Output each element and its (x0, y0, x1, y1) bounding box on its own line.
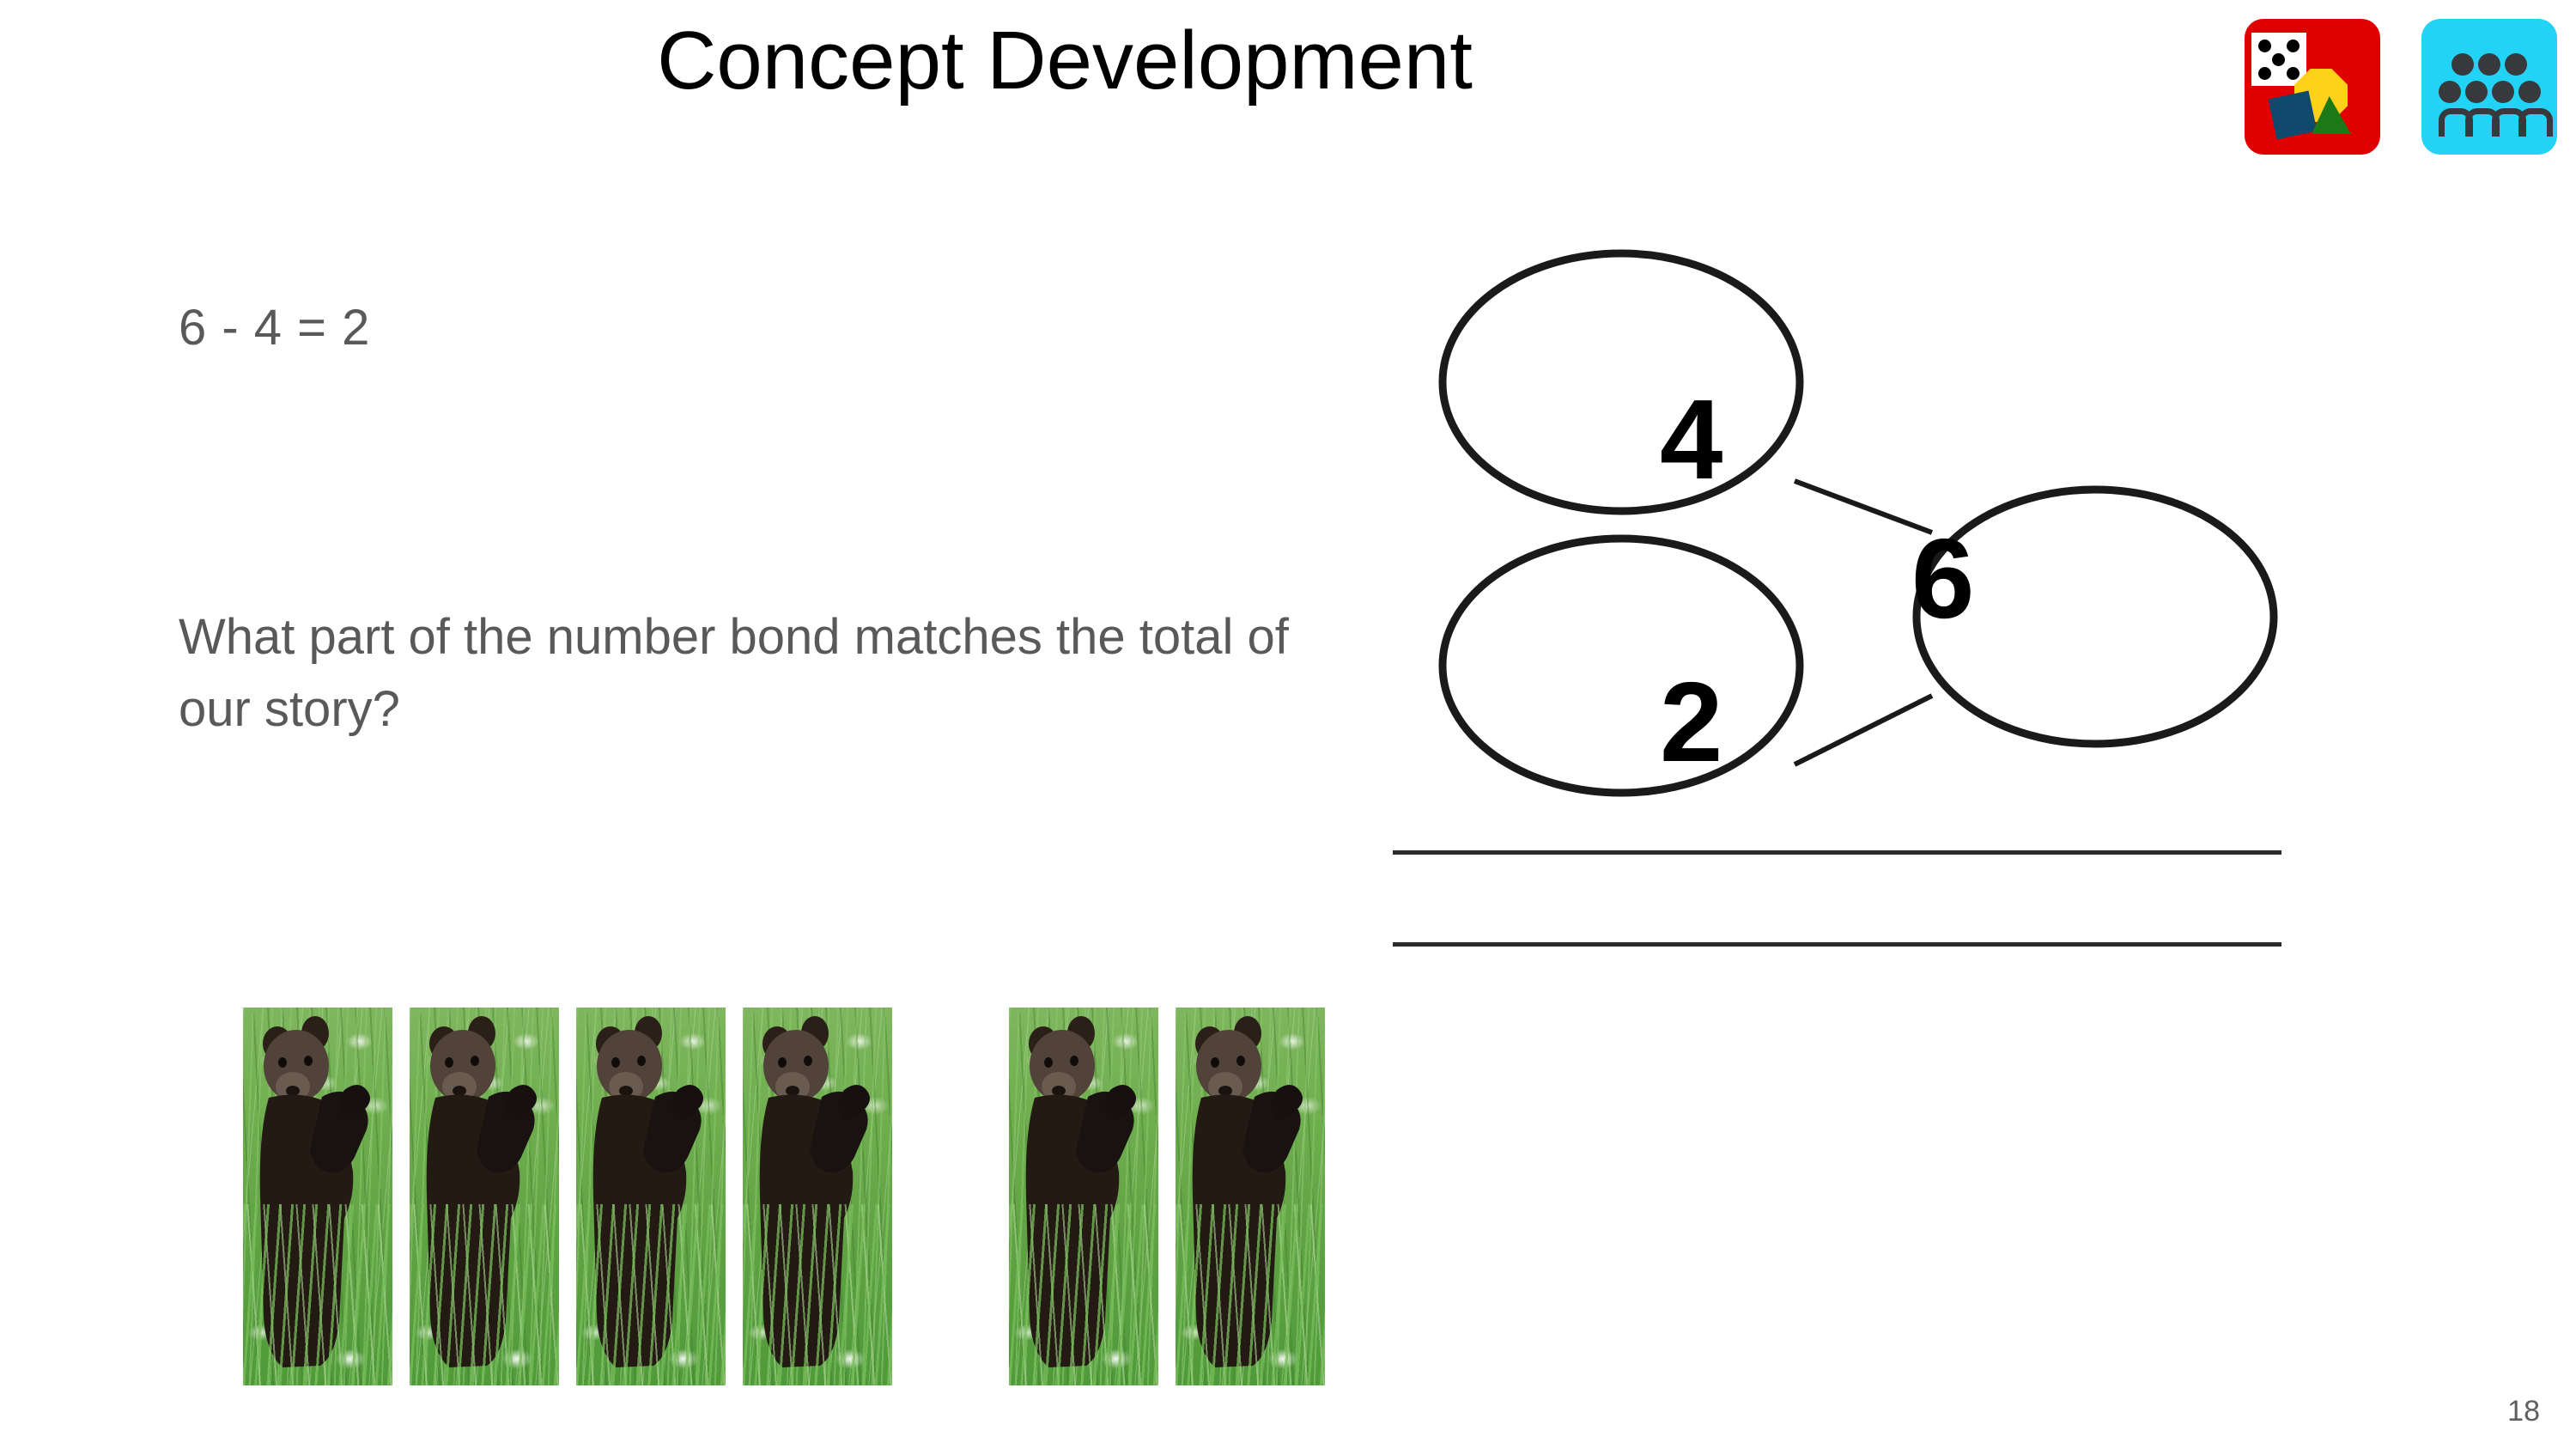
answer-line-1[interactable] (1393, 850, 2281, 855)
page-title: Concept Development (0, 15, 2129, 107)
number-bond-part-two: 2 (1660, 666, 1722, 779)
logo-row (2245, 19, 2557, 155)
bear-image-row (243, 1008, 1325, 1385)
shapes-and-dice-logo (2245, 19, 2380, 155)
number-bond-total: 6 (1911, 522, 1974, 636)
page-number: 18 (2507, 1395, 2540, 1428)
bear-image (410, 1008, 559, 1385)
bear-image (1009, 1008, 1158, 1385)
bear-group-two (1009, 1008, 1325, 1385)
answer-line-2[interactable] (1393, 942, 2281, 947)
equation-text: 6 - 4 = 2 (179, 299, 370, 356)
question-text: What part of the number bond matches the… (179, 601, 1364, 746)
number-bond-part-one: 4 (1660, 383, 1722, 496)
square-icon (2269, 91, 2318, 140)
people-group-logo (2421, 19, 2557, 155)
die-icon (2251, 33, 2306, 86)
number-bond-diagram: 4 2 6 (1417, 232, 2327, 833)
answer-lines (1393, 850, 2281, 947)
bear-image (743, 1008, 892, 1385)
slide-canvas: Concept Development 6 - 4 = 2 What (0, 0, 2576, 1449)
bear-image (1176, 1008, 1325, 1385)
bear-image (576, 1008, 726, 1385)
bear-group-one (243, 1008, 892, 1385)
bear-image (243, 1008, 392, 1385)
